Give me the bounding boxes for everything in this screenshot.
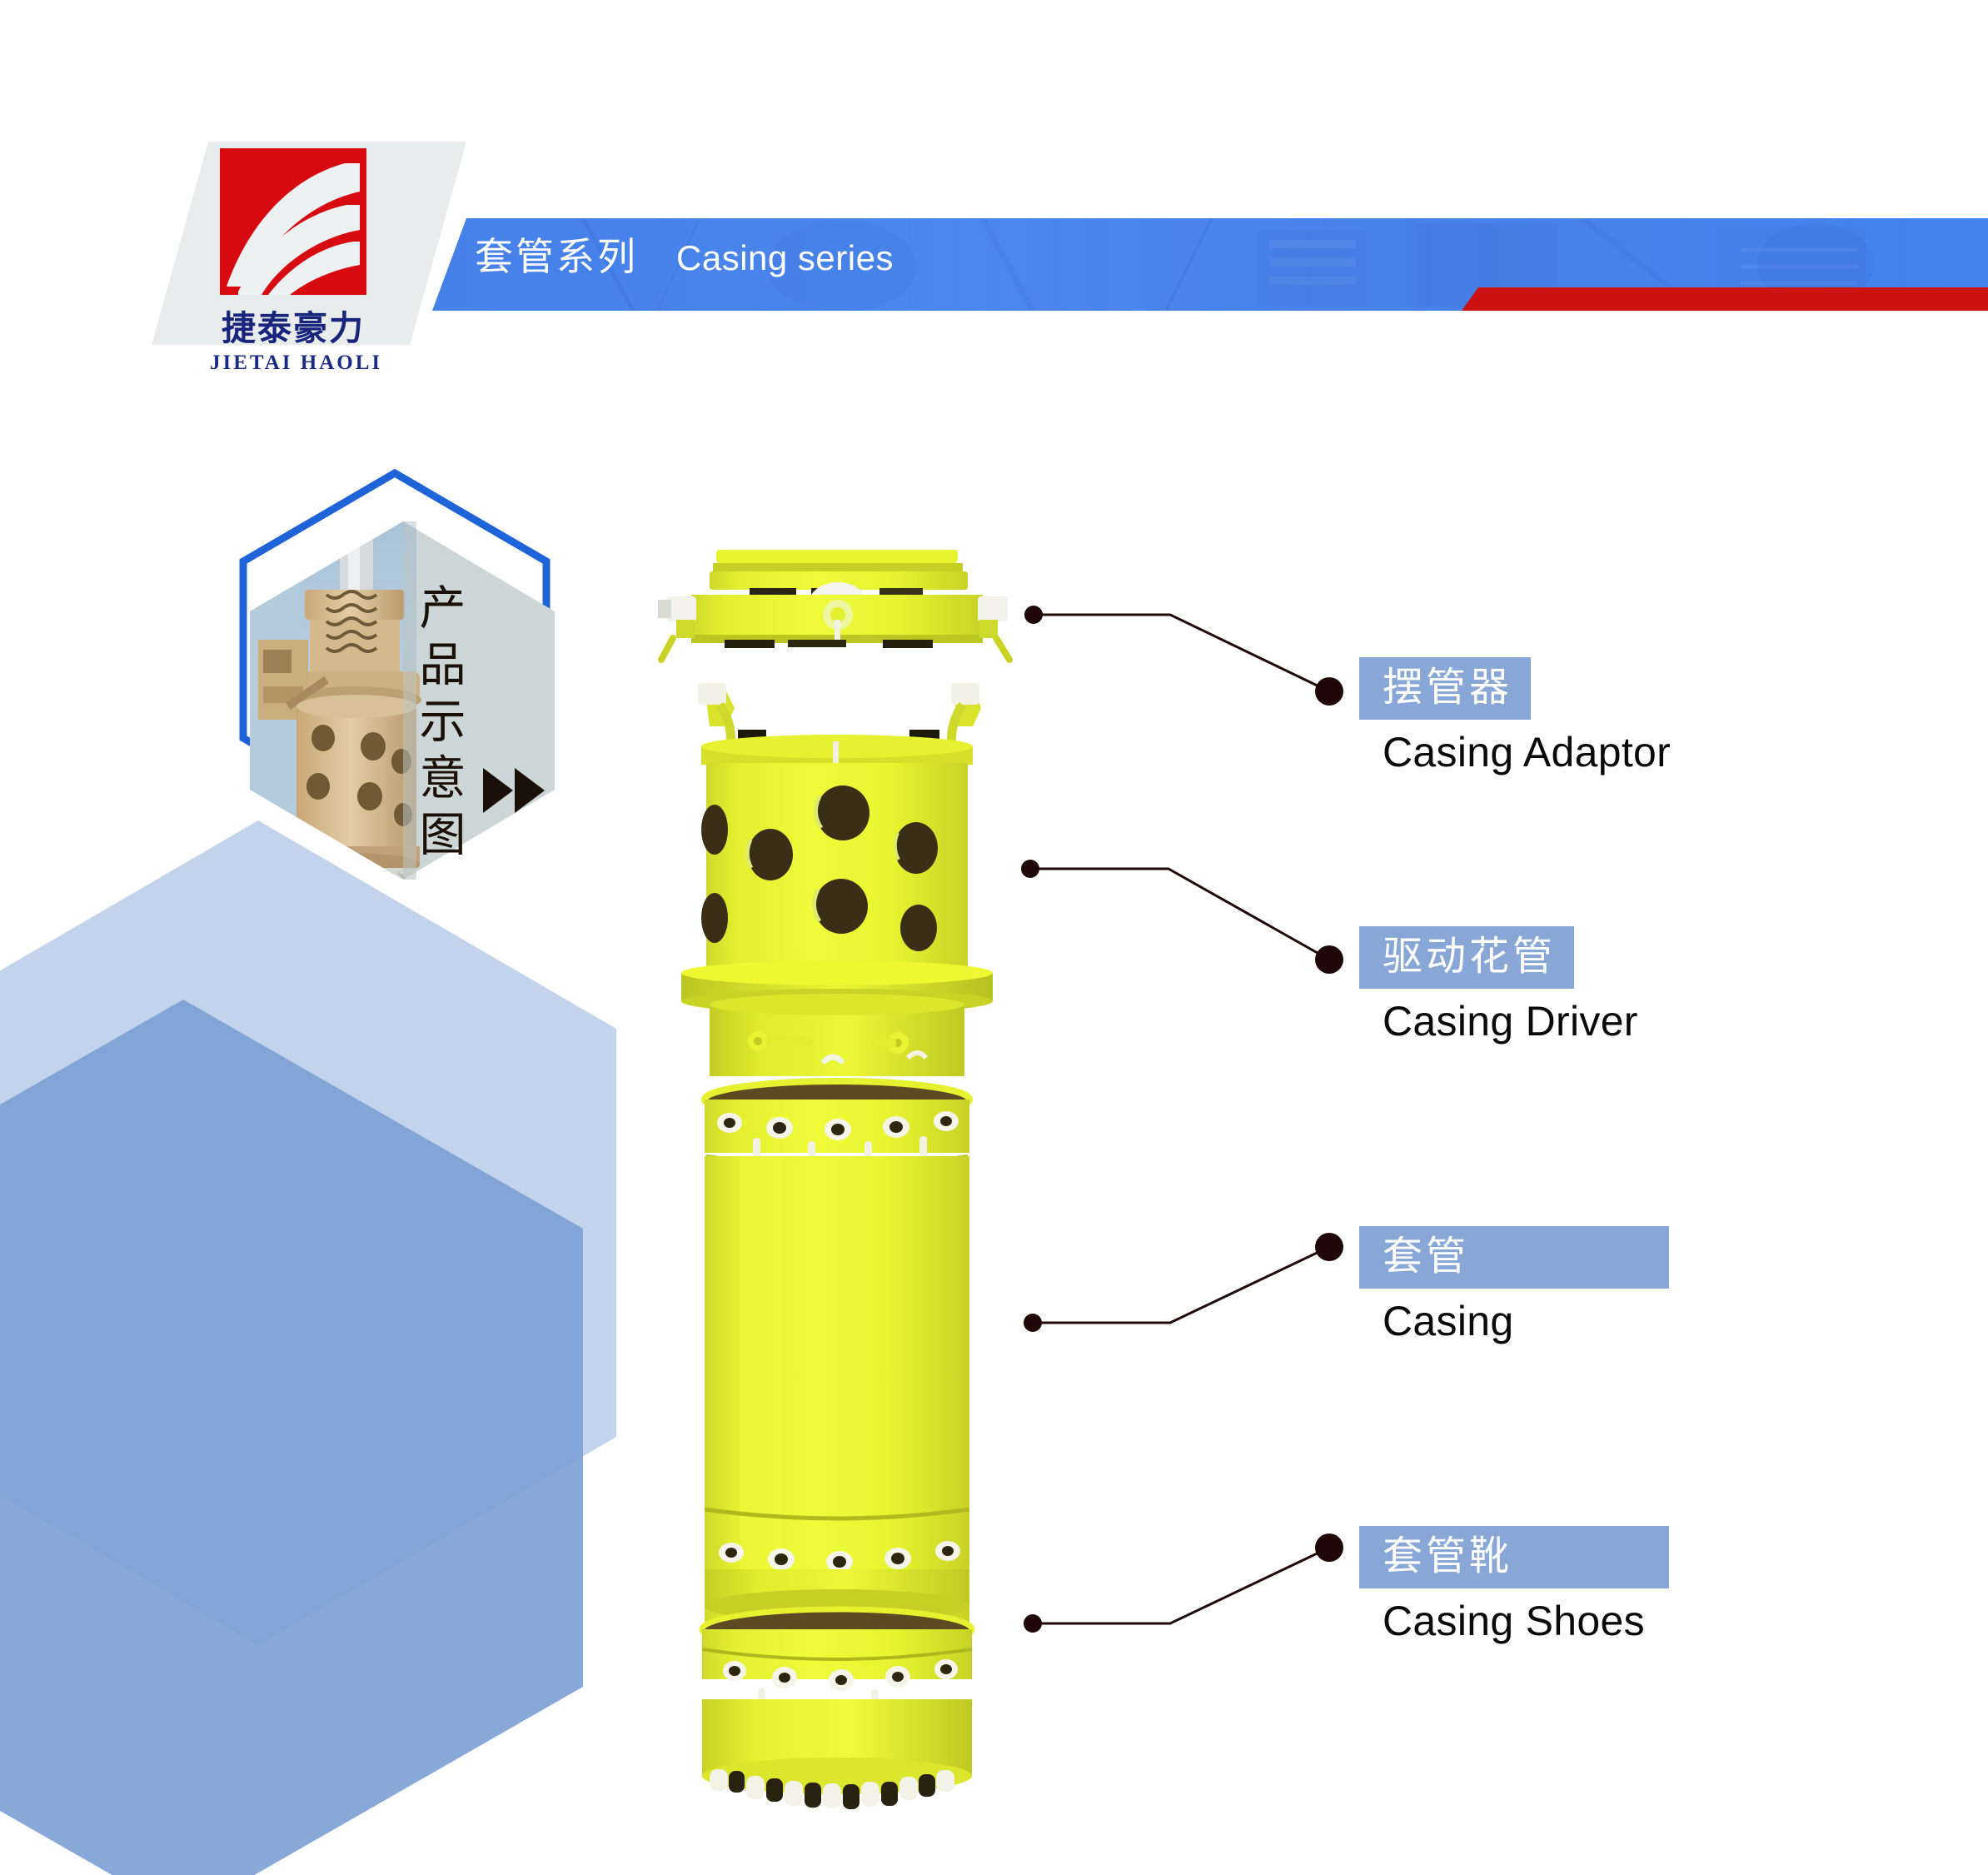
callout-label-en-casing: Casing [1359,1297,1669,1345]
decor-hexagon-dark [0,1000,583,1875]
callout-casing-shoes[interactable]: 套管靴 Casing Shoes [1359,1526,1669,1645]
callout-label-cn-driver: 驱动花管 [1359,926,1574,989]
logo-text-en: JIETAI HAOLI [210,352,376,375]
leader-line-casing-driver [1030,869,1329,960]
product-schematic-badge[interactable] [163,456,563,923]
callout-casing[interactable]: 套管 Casing [1359,1226,1669,1345]
banner-title-en: Casing series [676,238,894,278]
page-header: 捷泰豪力 JIETAI HAOLI 套管系列 Casing series [0,0,1988,350]
callout-label-cn-adaptor: 摆管器 [1359,657,1531,720]
leader-dot-label-adaptor [1315,677,1343,706]
logo-text-cn: 捷泰豪力 [210,300,376,350]
callout-chip-wrap-driver: 驱动花管 [1359,926,1669,989]
leader-line-casing [1033,1247,1329,1323]
callout-label-en-adaptor: Casing Adaptor [1359,728,1671,776]
part-casing-driver [681,683,993,1076]
banner-title-cn: 套管系列 [475,227,638,282]
callout-casing-adaptor[interactable]: 摆管器 Casing Adaptor [1359,657,1671,776]
product-exploded-view [633,533,1066,1749]
part-casing-adaptor [658,550,1009,660]
header-accent-bar [1462,287,1988,311]
decor-hexagon-light [0,820,616,1645]
callout-chip-wrap-adaptor: 摆管器 [1359,657,1669,720]
callout-label-cn-casing: 套管 [1359,1226,1669,1289]
machine-photo [250,521,421,888]
part-casing [705,1081,969,1623]
callout-casing-driver[interactable]: 驱动花管 Casing Driver [1359,926,1669,1045]
callout-chip-wrap-shoes: 套管靴 [1359,1526,1669,1588]
callout-chip-wrap-casing: 套管 [1359,1226,1669,1289]
leader-dot-label-driver [1315,945,1343,974]
leader-dot-label-shoes [1315,1533,1343,1562]
double-triangle-right-icon [481,766,546,819]
leader-line-casing-shoes [1033,1548,1329,1623]
banner-title-group: 套管系列 Casing series [475,227,894,282]
schematic-label-cn: 产品示意图 [415,583,461,866]
logo-mark-icon [220,148,366,295]
callout-label-en-driver: Casing Driver [1359,997,1669,1045]
callout-label-en-shoes: Casing Shoes [1359,1597,1669,1645]
callout-label-cn-shoes: 套管靴 [1359,1526,1669,1588]
casing-shoe-skirt [633,1699,1066,1833]
brand-logo[interactable]: 捷泰豪力 JIETAI HAOLI [210,148,376,375]
leader-line-casing-adaptor [1034,615,1329,691]
leader-dot-label-casing [1315,1233,1343,1261]
